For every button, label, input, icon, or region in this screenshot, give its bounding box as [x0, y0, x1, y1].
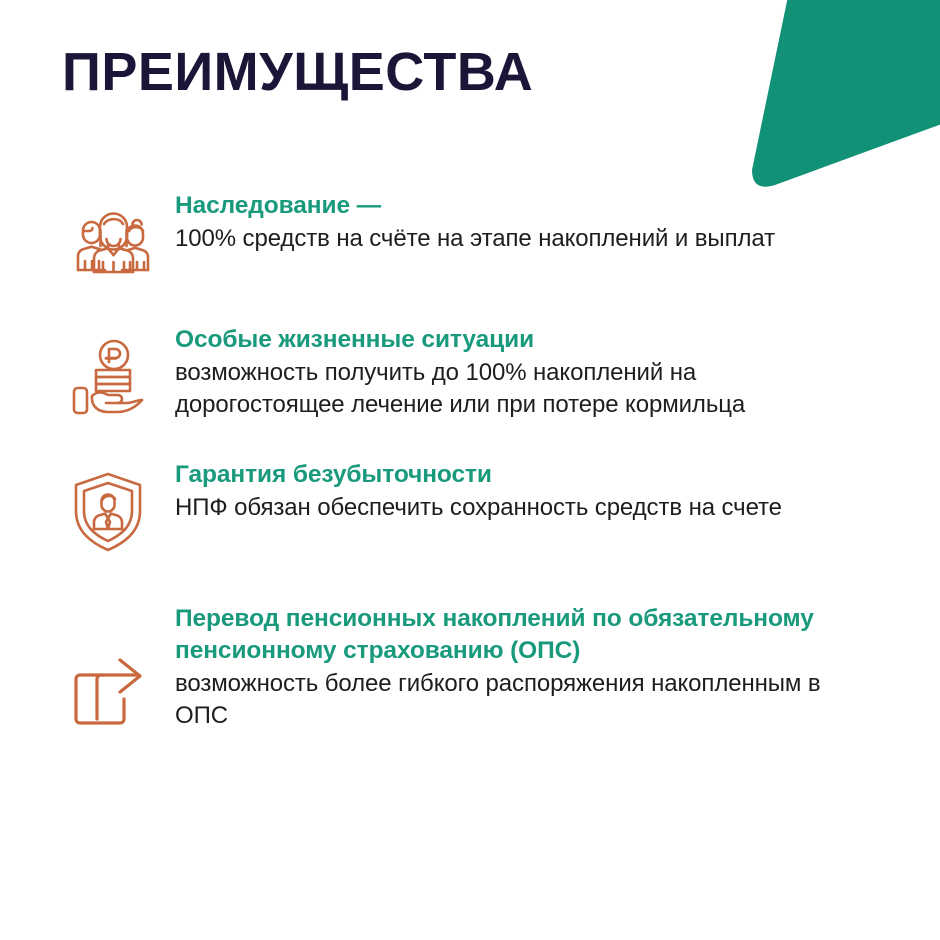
shield-person-icon — [70, 471, 146, 553]
family-group-icon — [70, 200, 156, 276]
benefit-heading: Наследование — — [175, 190, 870, 222]
benefit-item: Гарантия безубыточности НПФ обязан обесп… — [70, 459, 870, 553]
benefit-icon-wrap — [70, 324, 175, 420]
benefit-icon-wrap — [70, 459, 175, 553]
benefit-body: НПФ обязан обеспечить сохранность средст… — [175, 492, 870, 524]
benefit-icon-wrap — [70, 190, 175, 276]
benefit-item: Особые жизненные ситуации возможность по… — [70, 324, 870, 421]
hand-holding-ruble-coins-icon — [70, 338, 152, 420]
benefit-heading: Перевод пенсионных накоплений по обязате… — [175, 603, 870, 667]
benefit-text-block: Наследование — 100% средств на счёте на … — [175, 190, 870, 255]
benefit-icon-wrap — [70, 603, 175, 731]
benefit-item: Наследование — 100% средств на счёте на … — [70, 190, 870, 276]
benefit-heading: Гарантия безубыточности — [175, 459, 870, 491]
slide-root: ПРЕИМУЩЕСТВА — [0, 0, 940, 940]
benefits-list: Наследование — 100% средств на счёте на … — [70, 190, 870, 732]
benefit-body: возможность получить до 100% накоплений … — [175, 357, 870, 421]
benefit-text-block: Перевод пенсионных накоплений по обязате… — [175, 603, 870, 732]
benefit-body: возможность более гибкого распоряжения н… — [175, 668, 870, 732]
benefit-heading: Особые жизненные ситуации — [175, 324, 870, 356]
transfer-out-arrow-icon — [70, 657, 150, 731]
page-title: ПРЕИМУЩЕСТВА — [62, 44, 533, 101]
benefit-body: 100% средств на счёте на этапе накоплени… — [175, 223, 870, 255]
benefit-text-block: Особые жизненные ситуации возможность по… — [175, 324, 870, 421]
benefit-text-block: Гарантия безубыточности НПФ обязан обесп… — [175, 459, 870, 524]
benefit-item: Перевод пенсионных накоплений по обязате… — [70, 603, 870, 732]
